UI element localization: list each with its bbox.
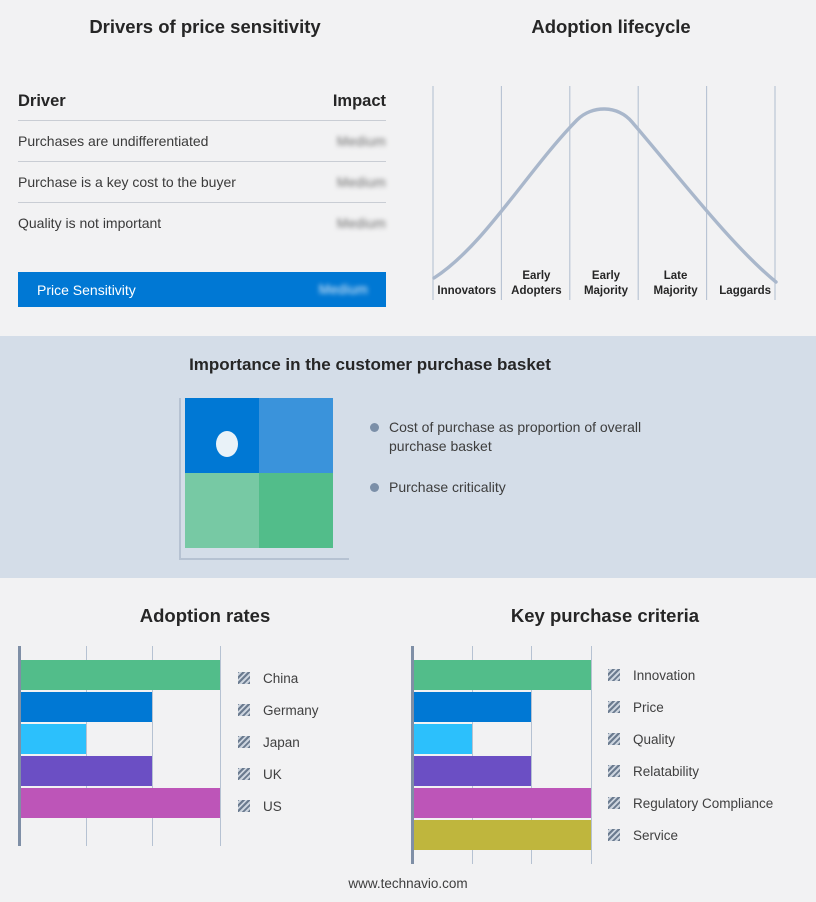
column-header-driver: Driver [18, 92, 66, 111]
list-item: Innovation [608, 659, 773, 691]
impact-value-redacted: Medium [337, 175, 386, 190]
hatch-swatch-icon [608, 669, 620, 681]
importance-panel-title: Importance in the customer purchase bask… [0, 355, 740, 375]
hatch-swatch-icon [608, 701, 620, 713]
purchase-criteria-chart [411, 646, 601, 864]
table-row: Purchase is a key cost to the buyer Medi… [18, 162, 386, 203]
drivers-table-header: Driver Impact [18, 92, 386, 121]
bar-chart-gridline [220, 646, 221, 846]
bar-service [414, 820, 592, 850]
hatch-swatch-icon [238, 736, 250, 748]
list-item: Cost of purchase as proportion of overal… [370, 418, 670, 456]
hatch-swatch-icon [238, 800, 250, 812]
adoption-lifecycle-chart: Innovators Early Adopters Early Majority… [432, 78, 780, 310]
bar-quality [414, 724, 473, 754]
stage-label: Early Adopters [502, 269, 572, 298]
matrix-quadrants [185, 398, 333, 548]
lifecycle-stage-late-majority: Late Majority [641, 246, 711, 298]
column-header-impact: Impact [333, 92, 386, 111]
infographic-page: Drivers of price sensitivity Driver Impa… [0, 0, 816, 902]
list-item: US [238, 790, 319, 822]
lifecycle-stage-early-majority: Early Majority [571, 246, 641, 298]
legend-label: US [263, 799, 282, 814]
list-item: Relatability [608, 755, 773, 787]
purchase-criteria-legend: InnovationPriceQualityRelatabilityRegula… [608, 659, 773, 851]
impact-value-redacted: Medium [337, 134, 386, 149]
lifecycle-stage-laggards: Laggards [710, 246, 780, 298]
legend-label: Germany [263, 703, 319, 718]
legend-label: UK [263, 767, 282, 782]
stage-label: Innovators [437, 284, 496, 299]
lifecycle-panel-title: Adoption lifecycle [406, 16, 816, 38]
list-item: Regulatory Compliance [608, 787, 773, 819]
price-sensitivity-summary-row: Price Sensitivity Medium [18, 272, 386, 307]
purchase-criteria-plot [411, 646, 591, 864]
list-item: Quality [608, 723, 773, 755]
legend-label: Regulatory Compliance [633, 796, 773, 811]
list-item: Purchase criticality [370, 478, 670, 497]
hatch-swatch-icon [608, 765, 620, 777]
legend-label: Cost of purchase as proportion of overal… [389, 418, 645, 456]
summary-label: Price Sensitivity [37, 282, 136, 298]
hatch-swatch-icon [238, 704, 250, 716]
bar-germany [21, 692, 153, 722]
table-row: Purchases are undifferentiated Medium [18, 121, 386, 162]
legend-label: Japan [263, 735, 300, 750]
legend-label: Innovation [633, 668, 695, 683]
footer-url: www.technavio.com [0, 876, 816, 891]
drivers-table: Driver Impact Purchases are undifferenti… [18, 92, 386, 243]
hatch-swatch-icon [608, 797, 620, 809]
list-item: Service [608, 819, 773, 851]
list-item: Germany [238, 694, 319, 726]
hatch-swatch-icon [238, 768, 250, 780]
legend-label: China [263, 671, 298, 686]
lifecycle-stage-innovators: Innovators [432, 246, 502, 298]
bar-relatability [414, 756, 531, 786]
matrix-position-marker [216, 431, 238, 457]
lifecycle-stage-labels: Innovators Early Adopters Early Majority… [432, 246, 780, 298]
adoption-rates-chart [18, 646, 238, 846]
matrix-quadrant-top-right [259, 398, 333, 473]
driver-label: Purchases are undifferentiated [18, 133, 208, 149]
adoption-rates-panel-title: Adoption rates [0, 605, 410, 627]
matrix-x-axis [179, 558, 349, 560]
lifecycle-stage-early-adopters: Early Adopters [502, 246, 572, 298]
bullet-icon [370, 483, 379, 492]
matrix-quadrant-bottom-right [259, 473, 333, 548]
hatch-swatch-icon [608, 733, 620, 745]
matrix-y-axis [179, 398, 181, 559]
matrix-quadrant-bottom-left [185, 473, 259, 548]
legend-label: Price [633, 700, 664, 715]
list-item: China [238, 662, 319, 694]
bar-japan [21, 724, 87, 754]
importance-legend: Cost of purchase as proportion of overal… [370, 418, 670, 519]
driver-label: Purchase is a key cost to the buyer [18, 174, 236, 190]
stage-label: Late Majority [641, 269, 711, 298]
bar-price [414, 692, 531, 722]
bar-innovation [414, 660, 592, 690]
bar-regulatory-compliance [414, 788, 592, 818]
legend-label: Service [633, 828, 678, 843]
importance-matrix [178, 398, 350, 566]
hatch-swatch-icon [608, 829, 620, 841]
bar-chart-gridline [591, 646, 592, 864]
drivers-panel-title: Drivers of price sensitivity [0, 16, 410, 38]
list-item: Price [608, 691, 773, 723]
list-item: Japan [238, 726, 319, 758]
bar-china [21, 660, 221, 690]
legend-label: Purchase criticality [389, 478, 506, 497]
bullet-icon [370, 423, 379, 432]
hatch-swatch-icon [238, 672, 250, 684]
adoption-rates-plot [18, 646, 220, 846]
adoption-rates-legend: ChinaGermanyJapanUKUS [238, 662, 319, 822]
purchase-criteria-panel-title: Key purchase criteria [400, 605, 810, 627]
list-item: UK [238, 758, 319, 790]
driver-label: Quality is not important [18, 215, 161, 231]
legend-label: Relatability [633, 764, 699, 779]
bar-us [21, 788, 221, 818]
bar-uk [21, 756, 153, 786]
legend-label: Quality [633, 732, 675, 747]
table-row: Quality is not important Medium [18, 203, 386, 243]
summary-impact-redacted: Medium [319, 282, 368, 297]
stage-label: Early Majority [571, 269, 641, 298]
stage-label: Laggards [719, 284, 771, 299]
impact-value-redacted: Medium [337, 216, 386, 231]
